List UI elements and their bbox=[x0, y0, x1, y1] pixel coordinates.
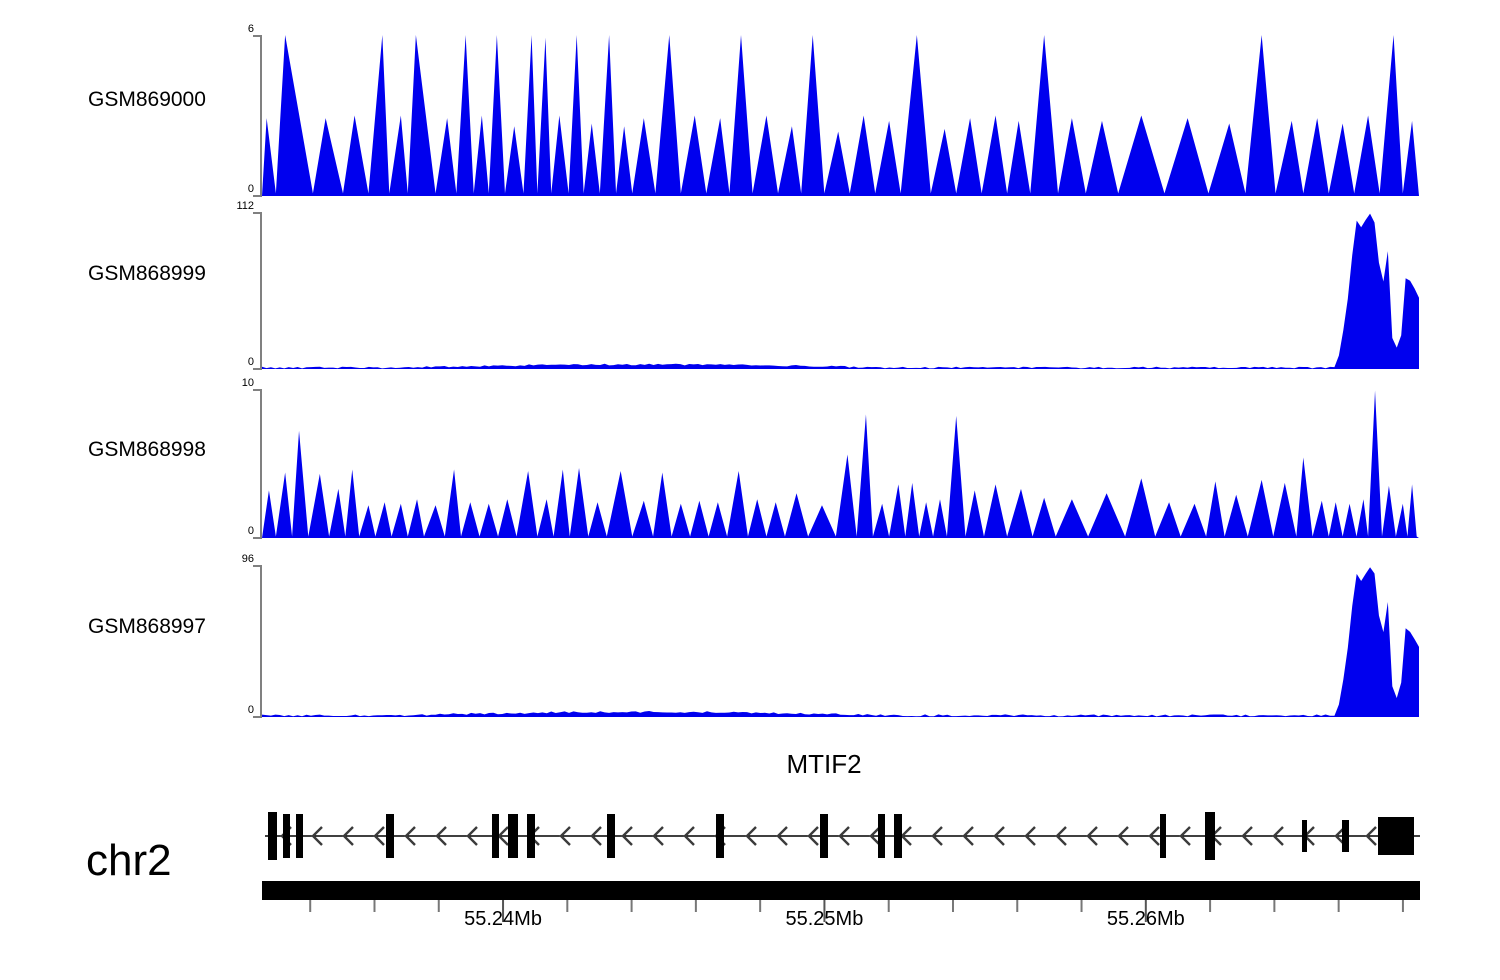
axis-min-gsm868997: 0 bbox=[196, 704, 254, 716]
ruler-bar bbox=[262, 881, 1420, 900]
axis-max-gsm869000: 6 bbox=[196, 23, 254, 35]
exon-block bbox=[894, 814, 902, 858]
coverage-area bbox=[262, 390, 1419, 538]
gene-model-track[interactable] bbox=[0, 786, 1500, 896]
ruler-tick-label: 55.26Mb bbox=[1056, 908, 1236, 931]
exon-block bbox=[296, 814, 303, 858]
coverage-plot-gsm869000 bbox=[248, 35, 1485, 200]
axis-min-gsm868999: 0 bbox=[196, 356, 254, 368]
chromosome-label: chr2 bbox=[86, 836, 172, 886]
ruler-tick-label: 55.25Mb bbox=[734, 908, 914, 931]
exon-block bbox=[1342, 820, 1349, 852]
exon-block bbox=[1302, 820, 1307, 852]
ruler-tick-label: 55.24Mb bbox=[413, 908, 593, 931]
coverage-plot-gsm868997 bbox=[248, 565, 1485, 721]
axis-max-gsm868998: 10 bbox=[196, 377, 254, 389]
track-label-gsm868998: GSM868998 bbox=[88, 438, 206, 462]
exon-block bbox=[1378, 817, 1414, 855]
exon-block bbox=[878, 814, 885, 858]
exon-block bbox=[386, 814, 394, 858]
axis-max-gsm868999: 112 bbox=[196, 200, 254, 212]
exon-block bbox=[820, 814, 828, 858]
coverage-area bbox=[262, 35, 1419, 196]
exon-block bbox=[492, 814, 499, 858]
exon-block bbox=[527, 814, 535, 858]
exon-block bbox=[1160, 814, 1166, 858]
gene-name-label: MTIF2 bbox=[704, 749, 944, 780]
exon-block bbox=[716, 814, 724, 858]
coverage-area bbox=[262, 214, 1419, 369]
coverage-plot-gsm868998 bbox=[248, 389, 1485, 542]
coverage-plot-gsm868999 bbox=[248, 212, 1485, 373]
coverage-area bbox=[262, 567, 1419, 717]
track-label-gsm869000: GSM869000 bbox=[88, 88, 206, 112]
exon-block bbox=[508, 814, 518, 858]
axis-max-gsm868997: 96 bbox=[196, 553, 254, 565]
track-label-gsm868999: GSM868999 bbox=[88, 262, 206, 286]
exon-block bbox=[1205, 812, 1215, 860]
track-label-gsm868997: GSM868997 bbox=[88, 615, 206, 639]
axis-min-gsm869000: 0 bbox=[196, 183, 254, 195]
exon-block bbox=[268, 812, 277, 860]
exon-block bbox=[607, 814, 615, 858]
genome-browser-view: GSM86900060GSM8689991120GSM868998100GSM8… bbox=[0, 0, 1500, 980]
axis-min-gsm868998: 0 bbox=[196, 525, 254, 537]
exon-block bbox=[283, 814, 290, 858]
